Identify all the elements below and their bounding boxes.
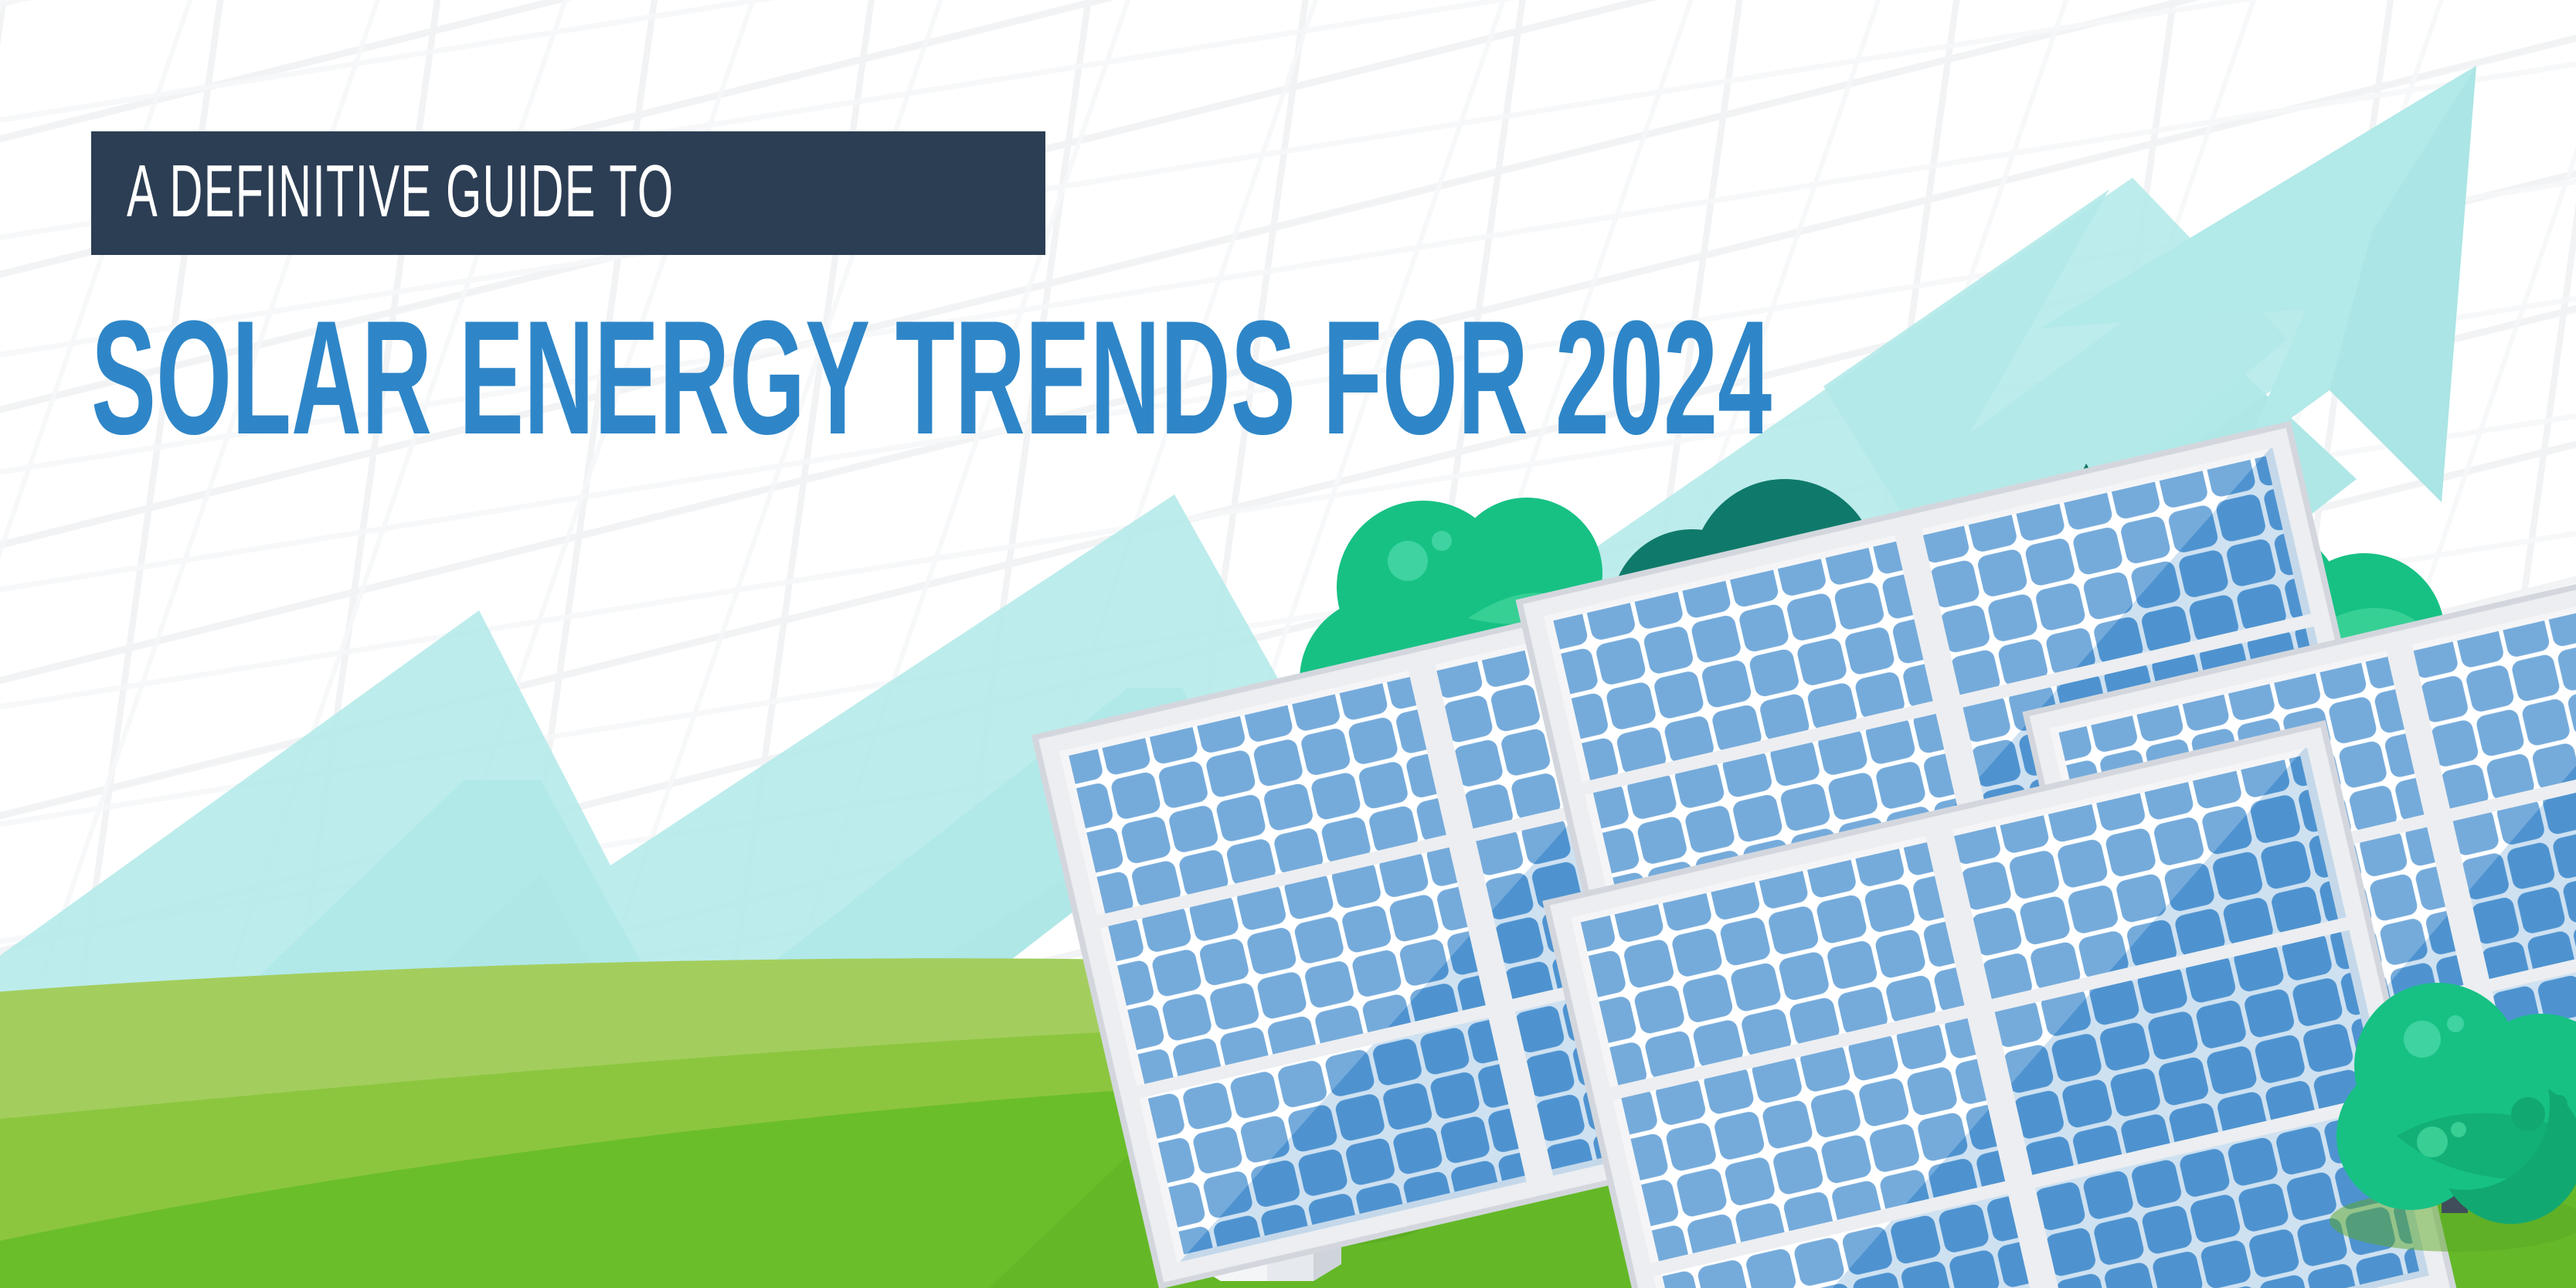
page-title: SOLAR ENERGY TRENDS FOR 2024 xyxy=(91,297,1772,459)
eyebrow-badge: A DEFINITIVE GUIDE TO xyxy=(91,131,1045,255)
corner-bush xyxy=(2330,983,2576,1252)
banner-text-block: A DEFINITIVE GUIDE TO SOLAR ENERGY TREND… xyxy=(91,131,2576,459)
eyebrow-text: A DEFINITIVE GUIDE TO xyxy=(127,155,674,229)
solar-energy-banner: A DEFINITIVE GUIDE TO SOLAR ENERGY TREND… xyxy=(0,0,2576,1288)
